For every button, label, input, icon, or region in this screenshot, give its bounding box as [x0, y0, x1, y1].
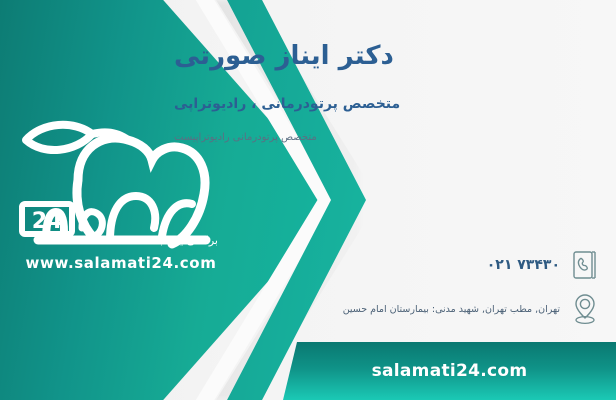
map-pin-icon	[568, 290, 602, 328]
footer-site: salamati24.com	[372, 361, 528, 381]
logo-url[interactable]: www.salamati24.com	[16, 254, 226, 272]
address-text: تهران, مطب تهران, شهید مدنی: بیمارستان ا…	[343, 304, 568, 315]
logo-tagline: براحتی یک لبخند	[144, 234, 218, 247]
doctor-speciality: متخصص پرتودرمانی ، رادیوتراپی	[174, 96, 594, 112]
business-card: 24 براحتی یک لبخند www.salamati24.com دک…	[0, 0, 616, 400]
doctor-name: دکتر ایناز صورتی	[174, 40, 594, 73]
phonebook-icon	[568, 246, 602, 284]
doctor-speciality-sub: متخصص پرتودرمانی رادیوتراپیست	[174, 132, 594, 143]
footer-bar[interactable]: salamati24.com	[283, 342, 616, 400]
phone-number: ۷۳۴۳۰ ۰۲۱	[487, 257, 568, 273]
phone-row[interactable]: ۷۳۴۳۰ ۰۲۱	[487, 246, 602, 284]
svg-text:24: 24	[32, 209, 63, 234]
address-row[interactable]: تهران, مطب تهران, شهید مدنی: بیمارستان ا…	[343, 290, 602, 328]
